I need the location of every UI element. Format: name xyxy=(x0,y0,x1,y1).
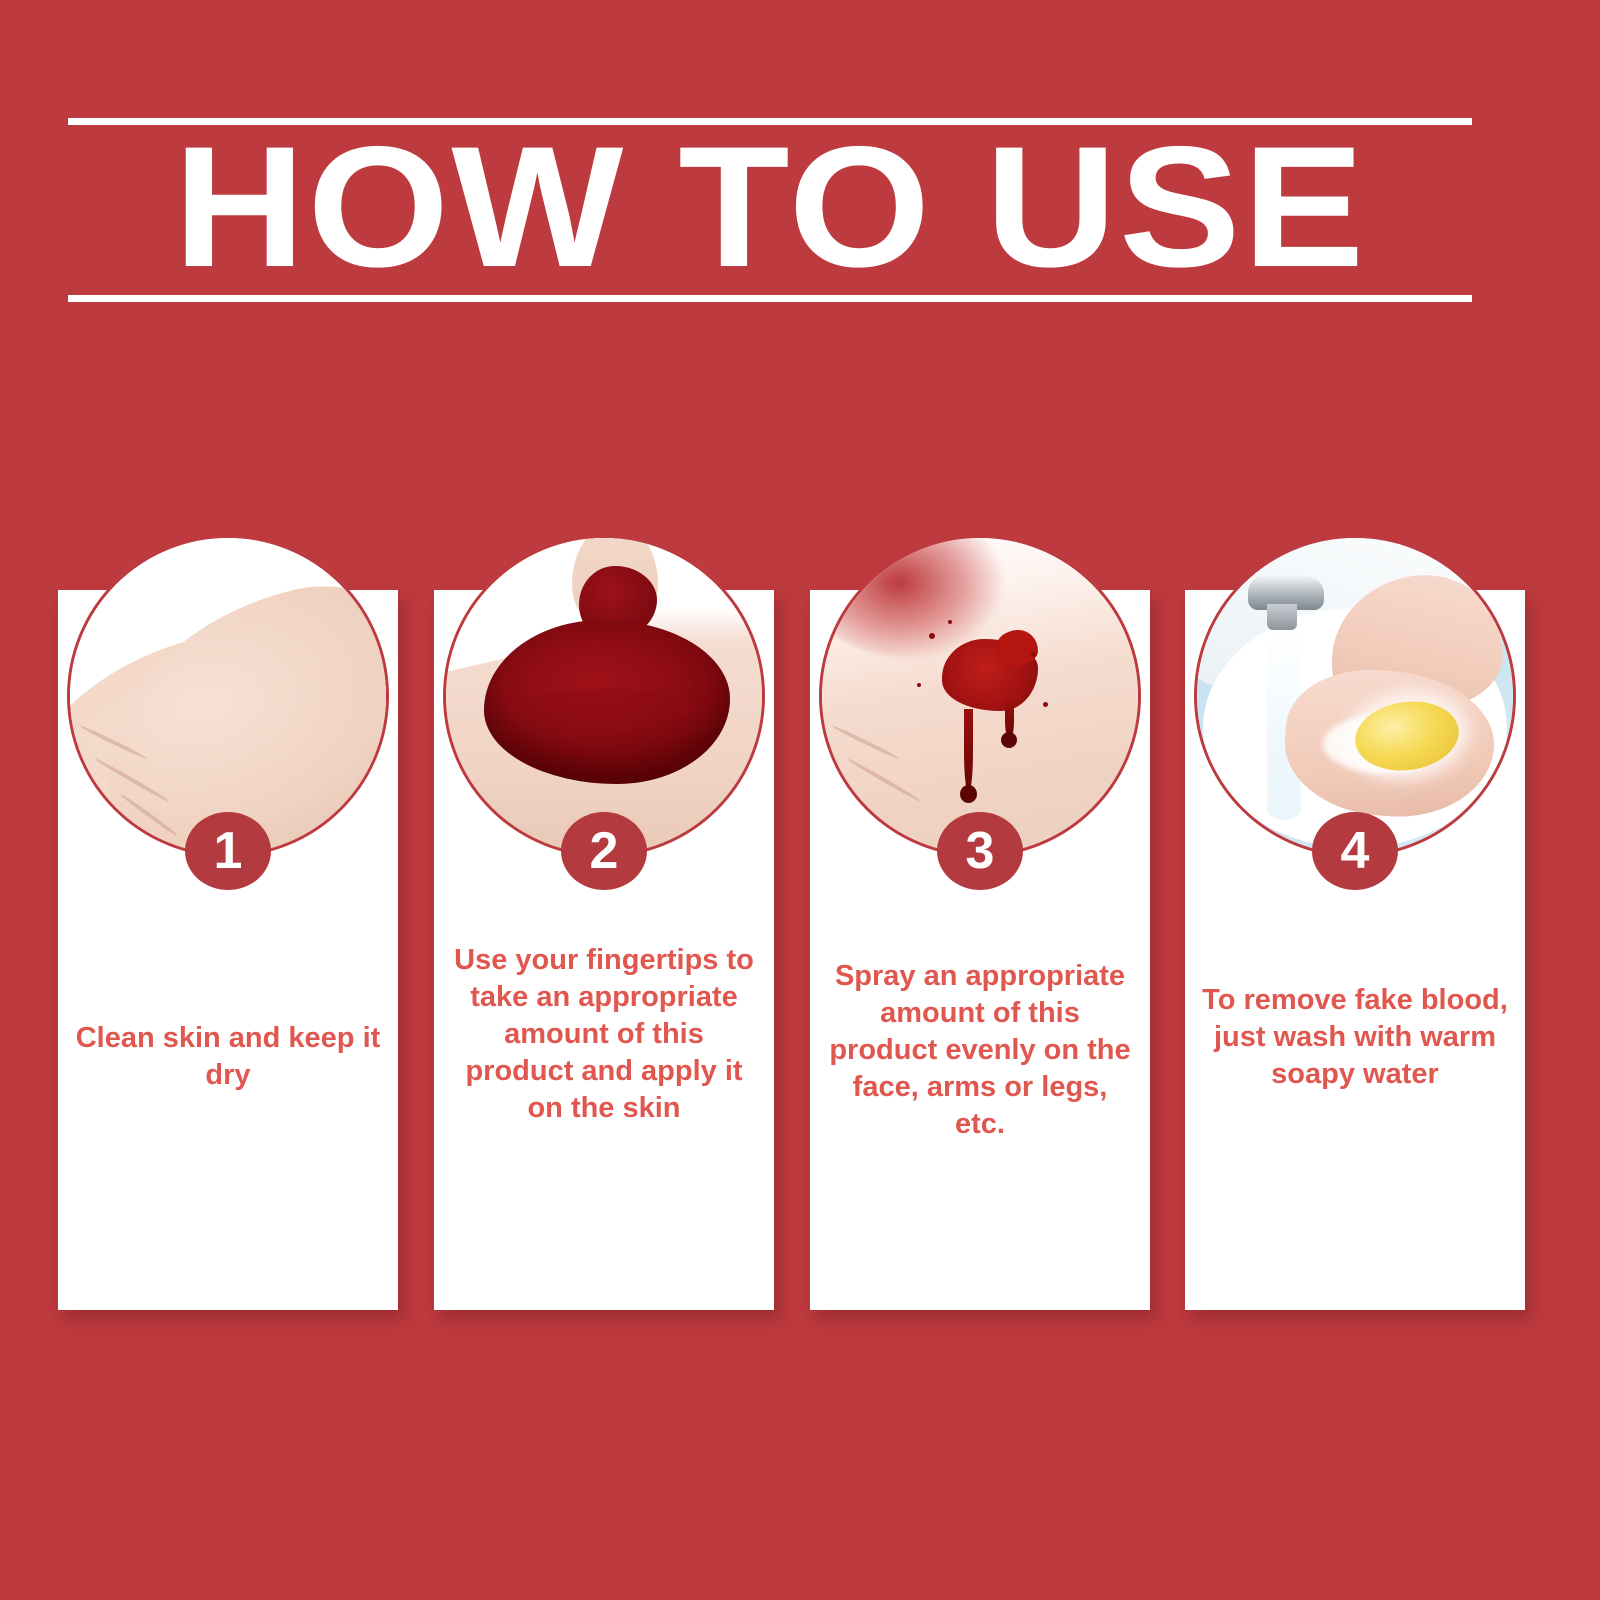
step-card-2: 2 Use your fingertips to take an appropr… xyxy=(434,590,774,1310)
step-card-3: 3 Spray an appropriate amount of this pr… xyxy=(810,590,1150,1310)
step-image-apply-blood xyxy=(443,535,765,857)
step-number-badge-1: 1 xyxy=(185,812,271,890)
step-image-spray-blood xyxy=(819,535,1141,857)
faucet-spout xyxy=(1267,604,1297,630)
step-image-clean-skin xyxy=(67,535,389,857)
step-caption-3: Spray an appropriate amount of this prod… xyxy=(824,958,1136,1144)
step-image-wash-hands xyxy=(1194,535,1516,857)
step-caption-4: To remove fake blood, just wash with war… xyxy=(1199,982,1511,1093)
step-card-4: 4 To remove fake blood, just wash with w… xyxy=(1185,590,1525,1310)
blood-speck xyxy=(1031,652,1036,657)
step-number-badge-4: 4 xyxy=(1312,812,1398,890)
step-number-badge-3: 3 xyxy=(937,812,1023,890)
step-card-1: 1 Clean skin and keep it dry xyxy=(58,590,398,1310)
step-caption-2: Use your fingertips to take an appropria… xyxy=(448,942,760,1128)
blood-drip xyxy=(1005,702,1014,740)
blood-puddle xyxy=(484,620,730,784)
blood-splatter-secondary xyxy=(996,630,1038,666)
step-caption-1: Clean skin and keep it dry xyxy=(72,1020,384,1094)
step-number-badge-2: 2 xyxy=(561,812,647,890)
steps-container: 1 Clean skin and keep it dry 2 Use your … xyxy=(0,0,1600,1600)
